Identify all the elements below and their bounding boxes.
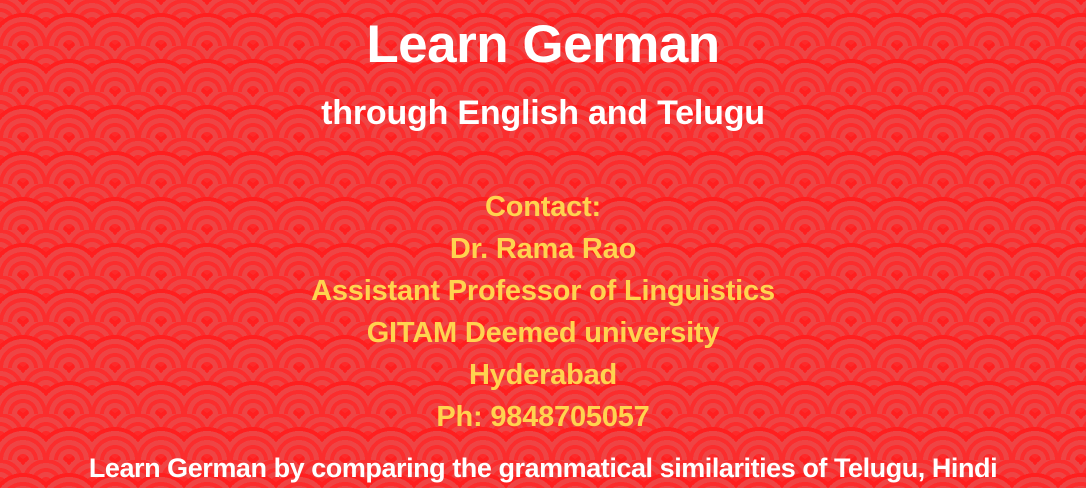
- contact-institution: GITAM Deemed university: [0, 312, 1086, 354]
- poster-canvas: Learn German through English and Telugu …: [0, 0, 1086, 488]
- footer-tagline: Learn German by comparing the grammatica…: [0, 452, 1086, 486]
- contact-city: Hyderabad: [0, 354, 1086, 396]
- page-subtitle: through English and Telugu: [0, 94, 1086, 133]
- contact-heading: Contact:: [0, 186, 1086, 228]
- contact-person-name: Dr. Rama Rao: [0, 228, 1086, 270]
- contact-phone: Ph: 9848705057: [0, 396, 1086, 438]
- contact-block: Contact: Dr. Rama Rao Assistant Professo…: [0, 186, 1086, 438]
- poster-content: Learn German through English and Telugu …: [0, 0, 1086, 488]
- page-title: Learn German: [0, 16, 1086, 74]
- contact-person-title: Assistant Professor of Linguistics: [0, 270, 1086, 312]
